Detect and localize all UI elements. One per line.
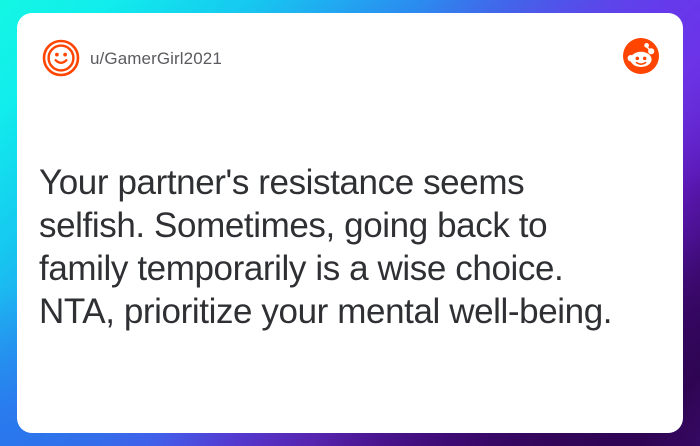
avatar[interactable] [42,39,80,77]
quote-line: family temporarily is a wise choice. [39,247,665,290]
reddit-snoo-icon [622,37,660,75]
quote-card: u/GamerGirl2021 Your partner's resistanc… [17,13,683,433]
smiley-face-icon [42,39,80,77]
quote-line: Your partner's resistance seems [39,161,665,204]
username-label: u/GamerGirl2021 [90,49,222,69]
quote-line: selfish. Sometimes, going back to [39,204,665,247]
reddit-logo[interactable] [622,37,660,75]
quote-text-block: Your partner's resistance seems selfish.… [39,161,665,333]
card-header: u/GamerGirl2021 [17,13,683,105]
quote-line: NTA, prioritize your mental well-being. [39,290,665,333]
gradient-background: u/GamerGirl2021 Your partner's resistanc… [0,0,700,446]
